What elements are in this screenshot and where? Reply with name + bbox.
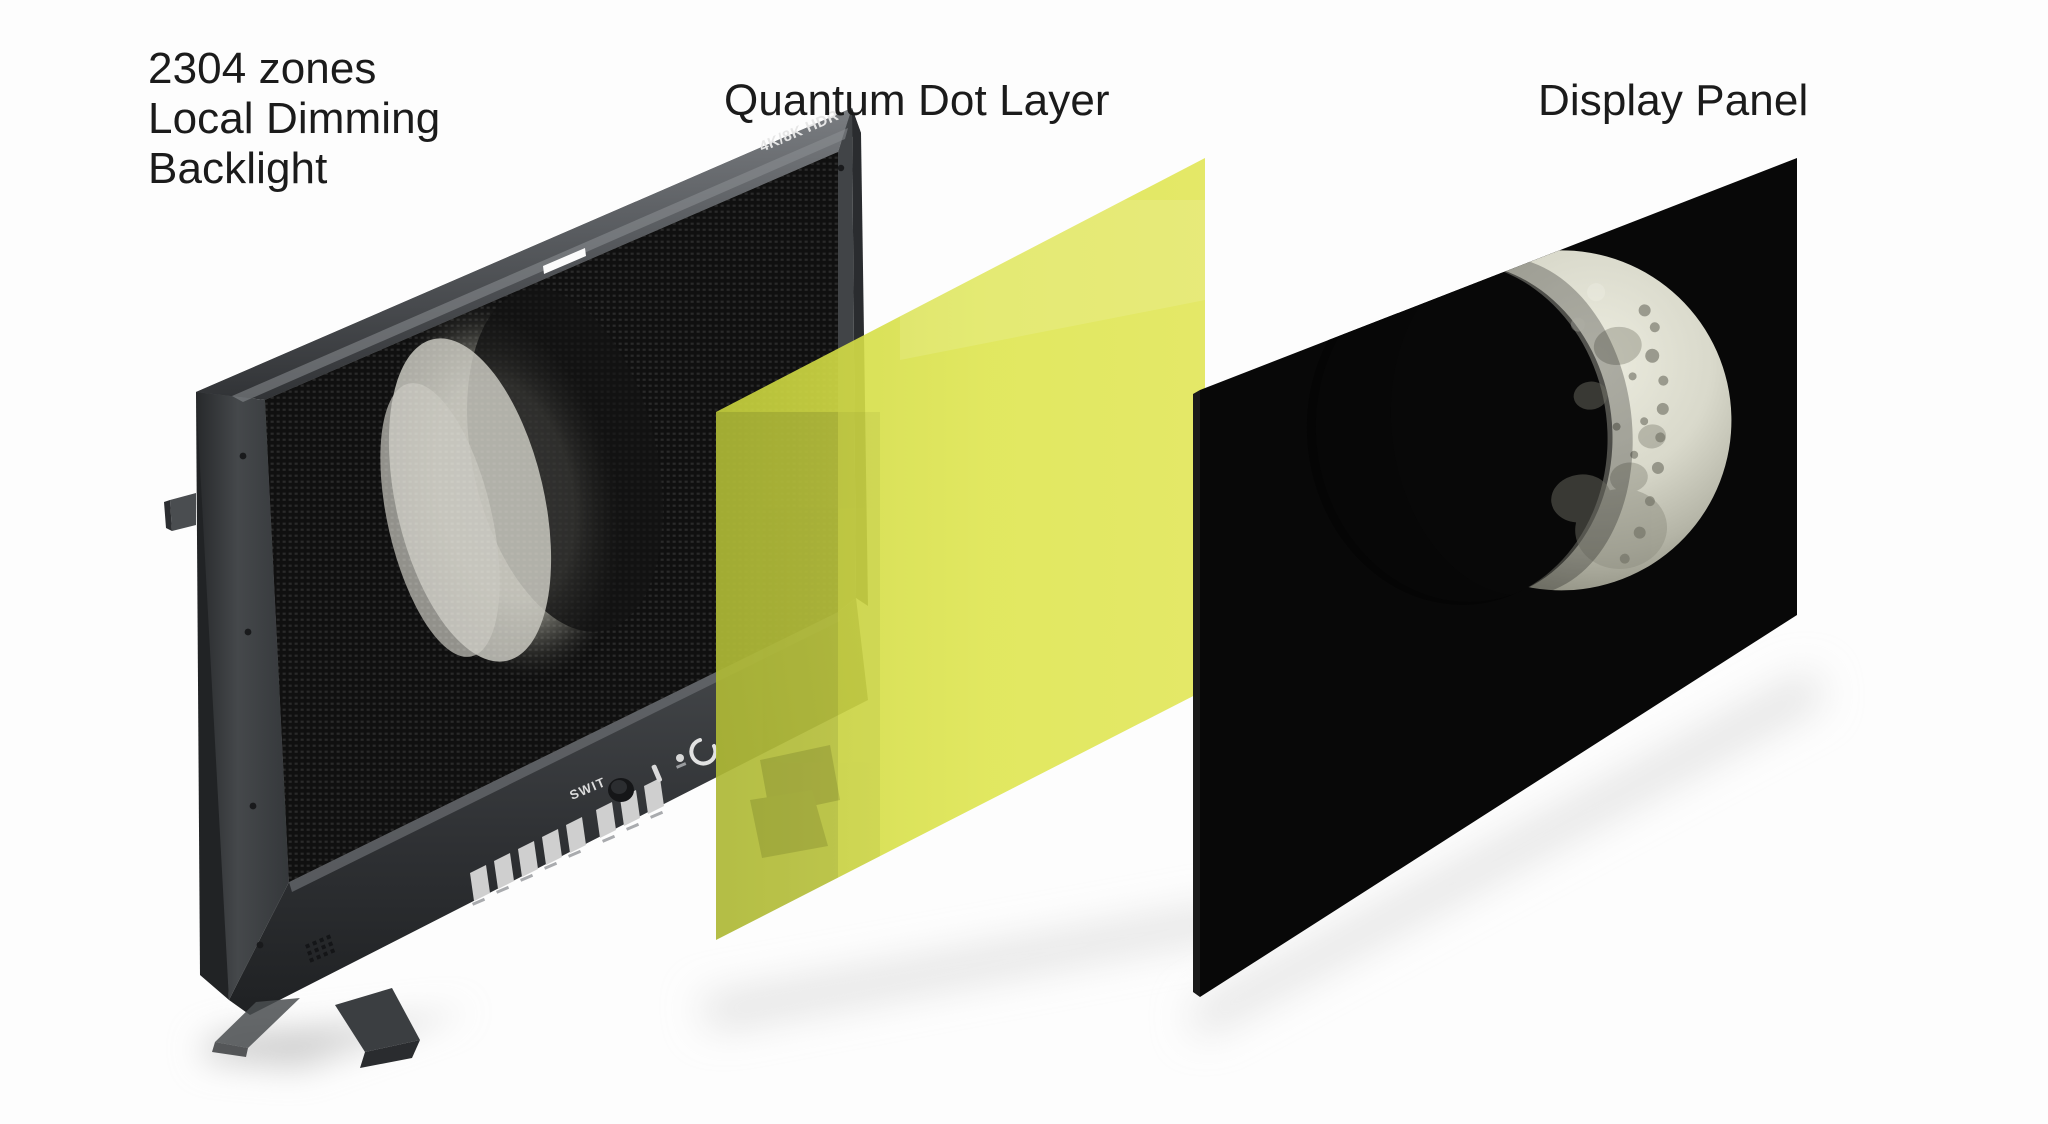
label-backlight-line3: Backlight xyxy=(148,144,440,194)
label-display-panel: Display Panel xyxy=(1538,76,1808,126)
label-backlight: 2304 zones Local Dimming Backlight xyxy=(148,44,440,194)
label-backlight-line1: 2304 zones xyxy=(148,44,440,94)
label-quantum-dot-layer: Quantum Dot Layer xyxy=(724,76,1110,126)
label-backlight-line2: Local Dimming xyxy=(148,94,440,144)
diagram-canvas: 4K/8K HDR SWIT xyxy=(0,0,2048,1124)
